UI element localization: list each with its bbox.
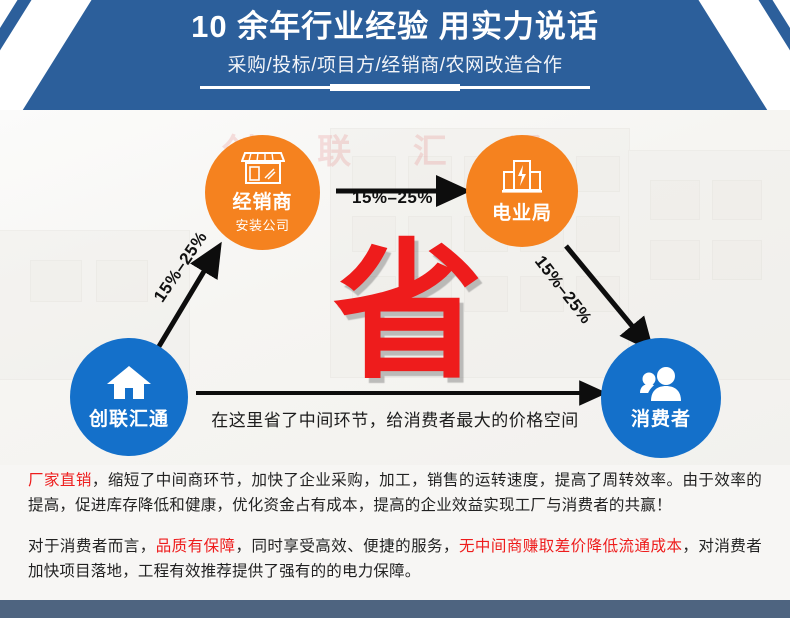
power-building-icon — [500, 158, 544, 196]
storefront-icon — [241, 151, 285, 185]
description-copy: 厂家直销，缩短了中间商环节，加快了企业采购，加工，销售的运转速度，提高了周转效率… — [0, 468, 790, 584]
home-icon — [106, 364, 152, 402]
users-icon — [638, 366, 684, 402]
header-subtitle: 采购/投标/项目方/经销商/农网改造合作 — [227, 50, 562, 77]
header-divider — [200, 86, 590, 89]
header-banner: 10 余年行业经验 用实力说话 采购/投标/项目方/经销商/农网改造合作 — [0, 0, 790, 110]
header-title: 10 余年行业经验 用实力说话 — [191, 9, 599, 45]
savings-character: 省 — [333, 238, 483, 388]
rate-label-dealer-bureau: 15%–25% — [352, 188, 433, 208]
node-dealer-sublabel: 安装公司 — [235, 215, 289, 234]
paragraph-1: 厂家直销，缩短了中间商环节，加快了企业采购，加工，销售的运转速度，提高了周转效率… — [28, 468, 762, 518]
highlighted-text: 无中间商赚取差价降低流通成本 — [459, 538, 682, 555]
body-text: ，同时享受高效、便捷的服务， — [236, 538, 459, 555]
highlighted-text: 品质有保障 — [156, 538, 236, 555]
node-company[interactable]: 创联汇通 — [70, 338, 188, 456]
highlighted-text: 厂家直销 — [28, 472, 92, 489]
node-dealer[interactable]: 经销商 安装公司 — [205, 135, 320, 250]
header-content: 10 余年行业经验 用实力说话 采购/投标/项目方/经销商/农网改造合作 — [0, 0, 790, 110]
promo-banner: 10 余年行业经验 用实力说话 采购/投标/项目方/经销商/农网改造合作 — [0, 0, 790, 618]
node-bureau[interactable]: 电业局 — [466, 135, 578, 247]
footer-bar — [0, 600, 790, 618]
body-text: ，缩短了中间商环节，加快了企业采购，加工，销售的运转速度，提高了周转效率。由于效… — [28, 472, 762, 514]
node-dealer-label: 经销商 — [232, 187, 292, 214]
body-text: 对于消费者而言， — [28, 538, 156, 555]
node-consumer[interactable]: 消费者 — [601, 338, 721, 458]
flow-caption: 在这里省了中间环节，给消费者最大的价格空间 — [0, 406, 790, 431]
node-bureau-label: 电业局 — [492, 198, 552, 225]
flow-diagram: 创 联 汇 通 省 15%–25% 15%–25% 15%–25% — [0, 110, 790, 465]
paragraph-2: 对于消费者而言，品质有保障，同时享受高效、便捷的服务，无中间商赚取差价降低流通成… — [28, 534, 762, 584]
